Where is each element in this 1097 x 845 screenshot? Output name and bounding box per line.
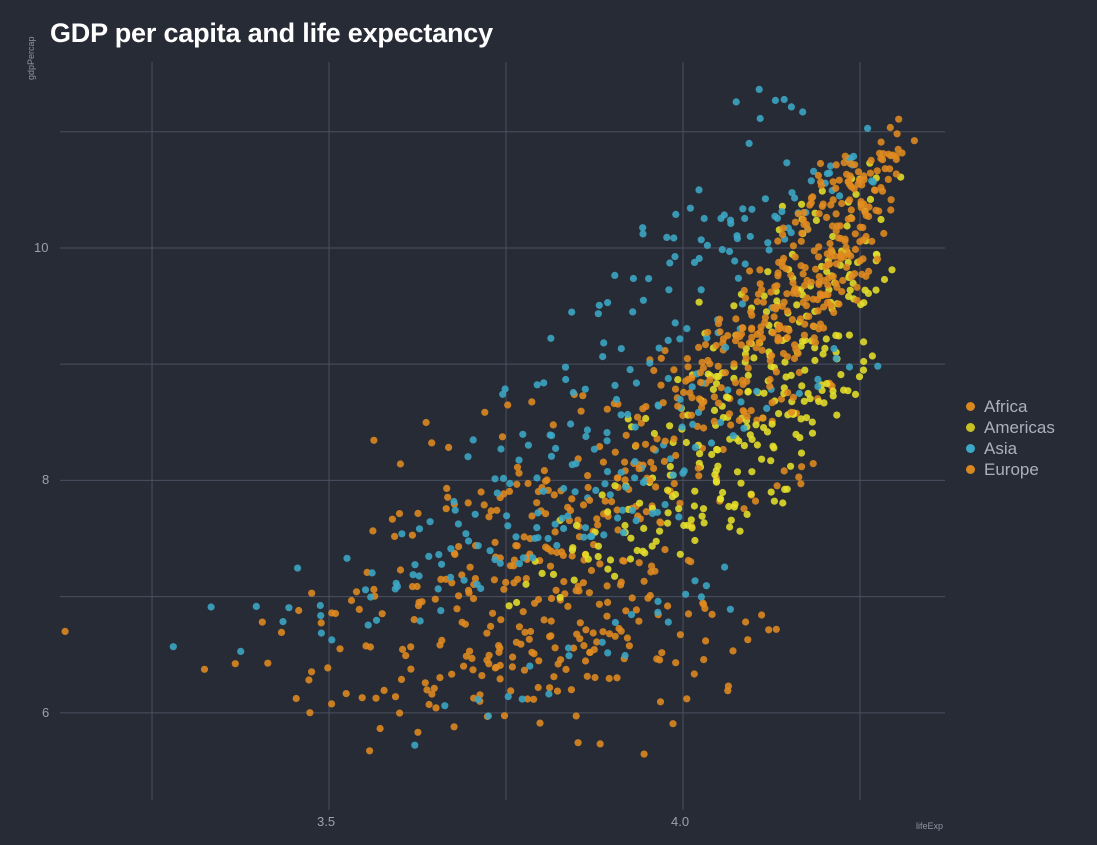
- data-point: [553, 542, 560, 549]
- data-point: [801, 367, 808, 374]
- data-point: [642, 403, 649, 410]
- data-point: [741, 409, 748, 416]
- data-point: [699, 359, 706, 366]
- series-asia: [170, 86, 882, 749]
- data-point: [604, 406, 611, 413]
- data-point: [842, 153, 849, 160]
- data-point: [832, 185, 839, 192]
- data-point: [611, 272, 618, 279]
- data-point: [695, 344, 702, 351]
- data-point: [650, 445, 657, 452]
- data-point: [613, 674, 620, 681]
- data-point: [864, 125, 871, 132]
- data-point: [588, 567, 595, 574]
- data-point: [817, 160, 824, 167]
- data-point: [702, 637, 709, 644]
- data-point: [757, 115, 764, 122]
- data-point: [808, 177, 815, 184]
- data-point: [513, 599, 520, 606]
- data-point: [857, 257, 864, 264]
- data-point: [568, 495, 575, 502]
- data-point: [788, 103, 795, 110]
- data-point: [613, 396, 620, 403]
- data-point: [629, 507, 636, 514]
- data-point: [560, 578, 567, 585]
- data-point: [726, 410, 733, 417]
- data-point: [813, 217, 820, 224]
- data-point: [868, 157, 875, 164]
- data-point: [752, 421, 759, 428]
- data-point: [533, 499, 540, 506]
- data-point: [746, 140, 753, 147]
- data-point: [369, 569, 376, 576]
- data-point: [389, 516, 396, 523]
- data-point: [618, 579, 625, 586]
- data-point: [830, 345, 837, 352]
- data-point: [567, 507, 574, 514]
- data-point: [696, 255, 703, 262]
- data-point: [506, 602, 513, 609]
- data-point: [865, 290, 872, 297]
- data-point: [293, 695, 300, 702]
- data-point: [308, 590, 315, 597]
- data-point: [627, 366, 634, 373]
- data-point: [868, 238, 875, 245]
- data-point: [588, 533, 595, 540]
- data-point: [672, 211, 679, 218]
- data-point: [639, 230, 646, 237]
- data-point: [798, 382, 805, 389]
- data-point: [475, 542, 482, 549]
- data-point: [547, 431, 554, 438]
- data-point: [805, 313, 812, 320]
- data-point: [432, 704, 439, 711]
- data-point: [840, 253, 847, 260]
- data-point: [667, 463, 674, 470]
- data-point: [455, 592, 462, 599]
- data-point: [665, 619, 672, 626]
- data-point: [700, 424, 707, 431]
- data-point: [658, 355, 665, 362]
- data-point: [878, 139, 885, 146]
- data-point: [717, 496, 724, 503]
- data-point: [724, 332, 731, 339]
- data-point: [611, 382, 618, 389]
- data-point: [875, 208, 882, 215]
- data-point: [737, 398, 744, 405]
- data-point: [594, 521, 601, 528]
- data-point: [815, 243, 822, 250]
- data-point: [695, 465, 702, 472]
- data-point: [833, 412, 840, 419]
- data-point: [455, 543, 462, 550]
- data-point: [833, 227, 840, 234]
- data-point: [264, 660, 271, 667]
- data-point: [417, 617, 424, 624]
- data-point: [805, 390, 812, 397]
- data-point: [702, 341, 709, 348]
- data-point: [640, 297, 647, 304]
- data-point: [465, 499, 472, 506]
- data-point: [744, 511, 751, 518]
- data-point: [812, 339, 819, 346]
- data-point: [879, 188, 886, 195]
- legend-item-asia[interactable]: Asia: [966, 438, 1055, 459]
- data-point: [716, 328, 723, 335]
- data-point: [571, 577, 578, 584]
- data-point: [575, 739, 582, 746]
- data-point: [835, 301, 842, 308]
- data-point: [580, 501, 587, 508]
- data-point: [562, 364, 569, 371]
- data-point: [553, 549, 560, 556]
- data-point: [515, 457, 522, 464]
- data-point: [487, 623, 494, 630]
- data-point: [489, 610, 496, 617]
- data-point: [800, 299, 807, 306]
- data-point: [370, 437, 377, 444]
- data-point: [658, 649, 665, 656]
- data-point: [527, 628, 534, 635]
- data-point: [799, 108, 806, 115]
- data-point: [754, 298, 761, 305]
- data-point: [353, 588, 360, 595]
- data-point: [837, 371, 844, 378]
- data-point: [801, 321, 808, 328]
- data-point: [827, 253, 834, 260]
- data-point: [550, 673, 557, 680]
- legend-item-americas[interactable]: Americas: [966, 417, 1055, 438]
- data-point: [324, 664, 331, 671]
- data-point: [409, 532, 416, 539]
- data-point: [755, 291, 762, 298]
- data-point: [757, 280, 764, 287]
- data-point: [552, 521, 559, 528]
- data-point: [824, 282, 831, 289]
- data-point: [838, 288, 845, 295]
- data-point: [411, 616, 418, 623]
- data-point: [760, 390, 767, 397]
- data-point: [514, 542, 521, 549]
- data-point: [738, 341, 745, 348]
- data-point: [752, 498, 759, 505]
- legend-item-label: Asia: [984, 440, 1017, 457]
- data-point: [779, 258, 786, 265]
- data-point: [553, 587, 560, 594]
- data-point: [727, 421, 734, 428]
- data-point: [826, 240, 833, 247]
- data-point: [630, 275, 637, 282]
- data-point: [685, 610, 692, 617]
- x-tick-label: 4.0: [671, 814, 689, 829]
- data-point: [876, 150, 883, 157]
- data-point: [487, 547, 494, 554]
- data-point: [788, 372, 795, 379]
- data-point: [815, 253, 822, 260]
- data-point: [348, 597, 355, 604]
- data-point: [820, 399, 827, 406]
- data-point: [713, 373, 720, 380]
- data-point: [437, 607, 444, 614]
- data-point: [695, 186, 702, 193]
- data-point: [838, 200, 845, 207]
- data-point: [730, 302, 737, 309]
- data-point: [731, 257, 738, 264]
- data-point: [676, 335, 683, 342]
- data-point: [691, 488, 698, 495]
- data-point: [450, 498, 457, 505]
- data-point: [756, 339, 763, 346]
- data-point: [506, 480, 513, 487]
- data-point: [830, 196, 837, 203]
- data-point: [649, 543, 656, 550]
- data-point: [837, 235, 844, 242]
- data-point: [783, 159, 790, 166]
- data-point: [726, 248, 733, 255]
- data-point: [696, 299, 703, 306]
- data-point: [627, 535, 634, 542]
- data-point: [519, 431, 526, 438]
- data-point: [768, 489, 775, 496]
- data-point: [593, 515, 600, 522]
- data-point: [621, 459, 628, 466]
- data-point: [733, 98, 740, 105]
- data-point: [782, 325, 789, 332]
- data-point: [762, 195, 769, 202]
- data-point: [779, 499, 786, 506]
- data-point: [550, 571, 557, 578]
- data-point: [641, 549, 648, 556]
- data-point: [595, 553, 602, 560]
- data-point: [285, 604, 292, 611]
- data-point: [493, 507, 500, 514]
- data-point: [560, 525, 567, 532]
- data-point: [397, 460, 404, 467]
- data-point: [830, 392, 837, 399]
- data-point: [432, 596, 439, 603]
- data-point: [578, 408, 585, 415]
- data-point: [791, 355, 798, 362]
- data-points: [62, 86, 919, 758]
- data-point: [784, 334, 791, 341]
- data-point: [715, 400, 722, 407]
- data-point: [503, 512, 510, 519]
- data-point: [823, 214, 830, 221]
- data-point: [407, 643, 414, 650]
- data-point: [670, 435, 677, 442]
- data-point: [846, 181, 853, 188]
- data-point: [677, 631, 684, 638]
- data-point: [526, 663, 533, 670]
- data-point: [852, 246, 859, 253]
- data-point: [535, 684, 542, 691]
- data-point: [736, 389, 743, 396]
- data-point: [880, 230, 887, 237]
- data-point: [519, 696, 526, 703]
- data-point: [504, 401, 511, 408]
- data-point: [732, 501, 739, 508]
- data-point: [452, 507, 459, 514]
- data-point: [478, 488, 485, 495]
- legend: AfricaAmericasAsiaEurope: [966, 396, 1055, 480]
- data-point: [860, 172, 867, 179]
- data-point: [515, 470, 522, 477]
- data-point: [852, 230, 859, 237]
- data-point: [568, 686, 575, 693]
- data-point: [460, 663, 467, 670]
- data-point: [663, 234, 670, 241]
- data-point: [411, 561, 418, 568]
- data-point: [727, 606, 734, 613]
- legend-item-europe[interactable]: Europe: [966, 459, 1055, 480]
- data-point: [554, 688, 561, 695]
- data-point: [606, 630, 613, 637]
- data-point: [784, 486, 791, 493]
- data-point: [562, 666, 569, 673]
- data-point: [790, 394, 797, 401]
- data-point: [685, 557, 692, 564]
- data-point: [820, 303, 827, 310]
- legend-marker-icon: [966, 402, 975, 411]
- data-point: [570, 389, 577, 396]
- data-point: [453, 605, 460, 612]
- data-point: [478, 672, 485, 679]
- data-point: [885, 151, 892, 158]
- data-point: [428, 439, 435, 446]
- data-point: [691, 577, 698, 584]
- data-point: [497, 445, 504, 452]
- data-point: [699, 513, 706, 520]
- data-point: [744, 636, 751, 643]
- data-point: [502, 579, 509, 586]
- data-point: [769, 399, 776, 406]
- data-point: [832, 280, 839, 287]
- data-point: [642, 441, 649, 448]
- data-point: [548, 618, 555, 625]
- data-point: [740, 425, 747, 432]
- data-point: [775, 410, 782, 417]
- data-point: [524, 480, 531, 487]
- data-point: [686, 389, 693, 396]
- data-point: [754, 331, 761, 338]
- data-point: [529, 554, 536, 561]
- data-point: [665, 375, 672, 382]
- legend-item-label: Americas: [984, 419, 1055, 436]
- data-point: [761, 319, 768, 326]
- data-point: [872, 287, 879, 294]
- data-point: [367, 594, 374, 601]
- data-point: [607, 491, 614, 498]
- data-point: [852, 391, 859, 398]
- data-point: [500, 475, 507, 482]
- data-point: [604, 566, 611, 573]
- data-point: [544, 545, 551, 552]
- data-point: [734, 468, 741, 475]
- data-point: [800, 270, 807, 277]
- data-point: [847, 172, 854, 179]
- data-point: [611, 482, 618, 489]
- data-point: [494, 490, 501, 497]
- data-point: [362, 586, 369, 593]
- data-point: [796, 390, 803, 397]
- data-point: [672, 452, 679, 459]
- data-point: [483, 630, 490, 637]
- data-point: [533, 524, 540, 531]
- data-point: [846, 332, 853, 339]
- data-point: [874, 167, 881, 174]
- data-point: [688, 516, 695, 523]
- data-point: [481, 501, 488, 508]
- data-point: [305, 676, 312, 683]
- data-point: [830, 273, 837, 280]
- data-point: [723, 393, 730, 400]
- data-point: [520, 608, 527, 615]
- data-point: [392, 585, 399, 592]
- data-point: [568, 309, 575, 316]
- data-point: [636, 500, 643, 507]
- data-point: [691, 537, 698, 544]
- data-point: [392, 693, 399, 700]
- data-point: [596, 601, 603, 608]
- data-point: [801, 332, 808, 339]
- data-point: [469, 666, 476, 673]
- data-point: [601, 480, 608, 487]
- data-point: [435, 585, 442, 592]
- data-point: [698, 236, 705, 243]
- data-point: [536, 720, 543, 727]
- data-point: [739, 205, 746, 212]
- data-point: [793, 301, 800, 308]
- data-point: [812, 266, 819, 273]
- data-point: [278, 629, 285, 636]
- data-point: [759, 415, 766, 422]
- data-point: [848, 206, 855, 213]
- data-point: [704, 329, 711, 336]
- data-point: [560, 485, 567, 492]
- data-point: [774, 482, 781, 489]
- data-point: [692, 444, 699, 451]
- data-point: [683, 439, 690, 446]
- x-tick-label: 3.5: [317, 814, 335, 829]
- data-point: [745, 365, 752, 372]
- data-point: [622, 652, 629, 659]
- data-point: [746, 339, 753, 346]
- data-point: [399, 646, 406, 653]
- data-point: [470, 595, 477, 602]
- data-point: [397, 566, 404, 573]
- data-point: [711, 393, 718, 400]
- data-point: [669, 720, 676, 727]
- data-point: [541, 467, 548, 474]
- data-point: [170, 643, 177, 650]
- data-point: [734, 235, 741, 242]
- data-point: [746, 267, 753, 274]
- data-point: [709, 611, 716, 618]
- data-point: [414, 729, 421, 736]
- data-point: [572, 460, 579, 467]
- data-point: [767, 376, 774, 383]
- data-point: [662, 438, 669, 445]
- legend-item-africa[interactable]: Africa: [966, 396, 1055, 417]
- data-point: [798, 450, 805, 457]
- data-point: [719, 489, 726, 496]
- data-point: [798, 238, 805, 245]
- data-point: [764, 268, 771, 275]
- data-point: [575, 587, 582, 594]
- data-point: [672, 659, 679, 666]
- data-point: [856, 238, 863, 245]
- data-point: [600, 339, 607, 346]
